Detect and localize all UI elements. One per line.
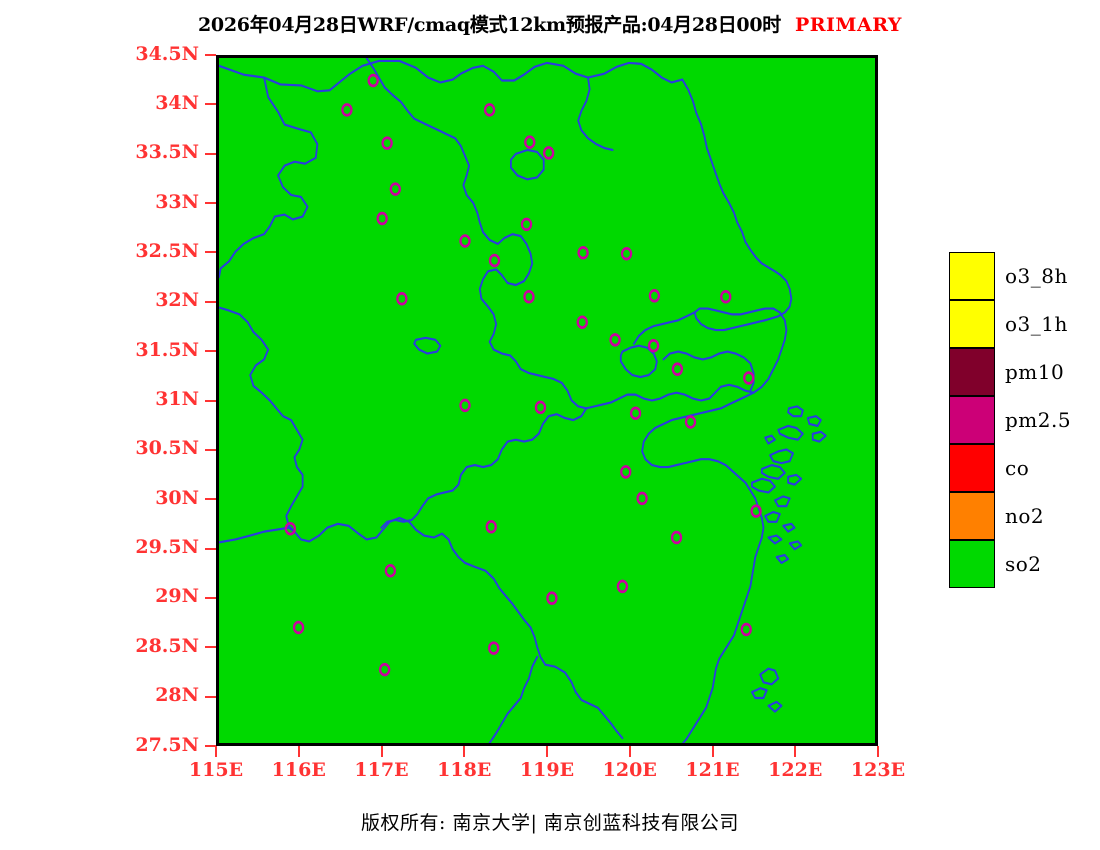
legend-swatch-co <box>949 444 995 492</box>
y-axis-tick-mark <box>205 54 216 56</box>
x-axis-tick-label: 117E <box>354 761 408 780</box>
legend-label: pm2.5 <box>1005 408 1071 432</box>
y-axis-tick-mark <box>205 153 216 155</box>
legend-label: co <box>1005 456 1029 480</box>
x-axis-tick-label: 121E <box>685 761 739 780</box>
copyright-footer: 版权所有: 南京大学| 南京创蓝科技有限公司 <box>0 808 1100 835</box>
title-primary-label: PRIMARY <box>795 14 902 36</box>
legend-item-o3_8h[interactable]: o3_8h <box>949 252 1089 300</box>
x-axis-tick-mark <box>629 746 631 757</box>
y-axis-tick-label: 29N <box>155 587 199 606</box>
legend-item-pm2.5[interactable]: pm2.5 <box>949 396 1089 444</box>
legend-label: o3_8h <box>1005 264 1068 288</box>
legend-swatch-o3_8h <box>949 252 995 300</box>
legend-swatch-so2 <box>949 540 995 588</box>
y-axis-tick-mark <box>205 103 216 105</box>
legend-label: so2 <box>1005 552 1042 576</box>
y-axis-tick-label: 34.5N <box>135 45 199 64</box>
x-axis-tick-mark <box>546 746 548 757</box>
y-axis-tick-label: 32.5N <box>135 242 199 261</box>
x-axis-tick-label: 118E <box>437 761 491 780</box>
y-axis-tick-mark <box>205 251 216 253</box>
y-axis-tick-label: 31N <box>155 390 199 409</box>
legend-item-pm10[interactable]: pm10 <box>949 348 1089 396</box>
y-axis-tick-mark <box>205 301 216 303</box>
y-axis-tick-label: 29.5N <box>135 538 199 557</box>
y-axis-tick-label: 28N <box>155 686 199 705</box>
y-axis-tick-mark <box>205 400 216 402</box>
y-axis-tick-mark <box>205 350 216 352</box>
y-axis-tick-label: 33.5N <box>135 143 199 162</box>
legend-swatch-no2 <box>949 492 995 540</box>
legend-swatch-o3_1h <box>949 300 995 348</box>
legend-item-so2[interactable]: so2 <box>949 540 1089 588</box>
legend-item-o3_1h[interactable]: o3_1h <box>949 300 1089 348</box>
legend-item-co[interactable]: co <box>949 444 1089 492</box>
x-axis-tick-mark <box>215 746 217 757</box>
legend-item-no2[interactable]: no2 <box>949 492 1089 540</box>
chart-title: 2026年04月28日WRF/cmaq模式12km预报产品:04月28日00时P… <box>0 10 1100 37</box>
legend-swatch-pm2.5 <box>949 396 995 444</box>
y-axis-tick-mark <box>205 597 216 599</box>
y-axis-tick-label: 31.5N <box>135 341 199 360</box>
legend-label: pm10 <box>1005 360 1064 384</box>
y-axis-tick-mark <box>205 548 216 550</box>
legend-swatch-pm10 <box>949 348 995 396</box>
x-axis-tick-label: 116E <box>272 761 326 780</box>
y-axis-tick-mark <box>205 498 216 500</box>
x-axis-tick-label: 119E <box>520 761 574 780</box>
x-axis-tick-label: 123E <box>851 761 905 780</box>
y-axis-tick-label: 27.5N <box>135 736 199 755</box>
map-canvas <box>219 58 875 743</box>
x-axis-tick-label: 122E <box>768 761 822 780</box>
legend-label: no2 <box>1005 504 1044 528</box>
y-axis-tick-mark <box>205 696 216 698</box>
y-axis-tick-mark <box>205 449 216 451</box>
x-axis-tick-label: 120E <box>603 761 657 780</box>
y-axis-tick-label: 32N <box>155 291 199 310</box>
x-axis-tick-mark <box>463 746 465 757</box>
copyright-text: 版权所有: 南京大学| 南京创蓝科技有限公司 <box>361 812 739 834</box>
y-axis-tick-label: 28.5N <box>135 637 199 656</box>
x-axis-tick-label: 115E <box>189 761 243 780</box>
y-axis-tick-label: 30N <box>155 489 199 508</box>
title-main-text: 2026年04月28日WRF/cmaq模式12km预报产品:04月28日00时 <box>198 14 781 36</box>
x-axis-tick-mark <box>877 746 879 757</box>
x-axis-tick-mark <box>712 746 714 757</box>
y-axis-tick-label: 33N <box>155 193 199 212</box>
x-axis-tick-mark <box>298 746 300 757</box>
pollutant-legend: o3_8ho3_1hpm10pm2.5cono2so2 <box>949 252 1089 588</box>
legend-label: o3_1h <box>1005 312 1068 336</box>
x-axis-tick-mark <box>381 746 383 757</box>
y-axis-tick-label: 30.5N <box>135 439 199 458</box>
x-axis-tick-mark <box>794 746 796 757</box>
y-axis-tick-mark <box>205 202 216 204</box>
y-axis-tick-mark <box>205 646 216 648</box>
map-plot-area[interactable] <box>216 55 878 746</box>
map-background-fill <box>219 58 875 743</box>
y-axis-tick-label: 34N <box>155 94 199 113</box>
